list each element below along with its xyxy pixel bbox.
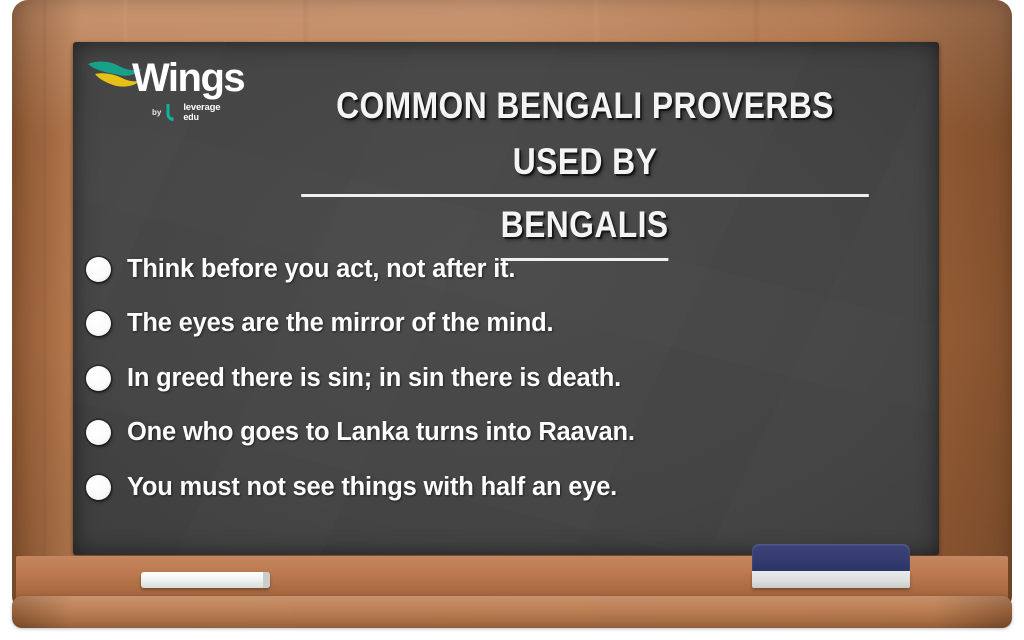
eraser-felt [752, 571, 910, 588]
leverage-edu-check-icon [165, 103, 179, 122]
page-title: COMMON BENGALI PROVERBS USED BY BENGALIS [255, 78, 915, 261]
wings-logo[interactable]: Wings by leverage edu [86, 54, 246, 132]
edu-text: edu [183, 113, 220, 122]
list-item: Think before you act, not after it. [86, 242, 876, 297]
bullet-circle-icon [86, 311, 111, 336]
title-line-1: COMMON BENGALI PROVERBS USED BY [255, 78, 915, 197]
chalkboard-poster: Wings by leverage edu COMMON BENGALI PRO… [0, 0, 1024, 640]
ledge-front-lip [12, 596, 1012, 628]
chalk-stick [141, 572, 270, 588]
list-item: In greed there is sin; in sin there is d… [86, 351, 876, 406]
proverb-text: In greed there is sin; in sin there is d… [127, 364, 621, 393]
bullet-circle-icon [86, 420, 111, 445]
proverb-text: Think before you act, not after it. [127, 255, 515, 284]
proverb-list: Think before you act, not after it. The … [86, 242, 876, 515]
bullet-circle-icon [86, 475, 111, 500]
logo-subline: by leverage edu [152, 103, 220, 122]
bullet-circle-icon [86, 366, 111, 391]
wings-wordmark: Wings [132, 58, 244, 98]
eraser-body [752, 544, 910, 572]
list-item: One who goes to Lanka turns into Raavan. [86, 406, 876, 461]
list-item: You must not see things with half an eye… [86, 460, 876, 515]
by-label: by [152, 108, 161, 117]
bullet-circle-icon [86, 257, 111, 282]
proverb-text: One who goes to Lanka turns into Raavan. [127, 418, 635, 447]
board-eraser [752, 544, 910, 588]
list-item: The eyes are the mirror of the mind. [86, 297, 876, 352]
proverb-text: You must not see things with half an eye… [127, 473, 617, 502]
leverage-edu-wordmark: leverage edu [183, 103, 220, 122]
proverb-text: The eyes are the mirror of the mind. [127, 309, 553, 338]
